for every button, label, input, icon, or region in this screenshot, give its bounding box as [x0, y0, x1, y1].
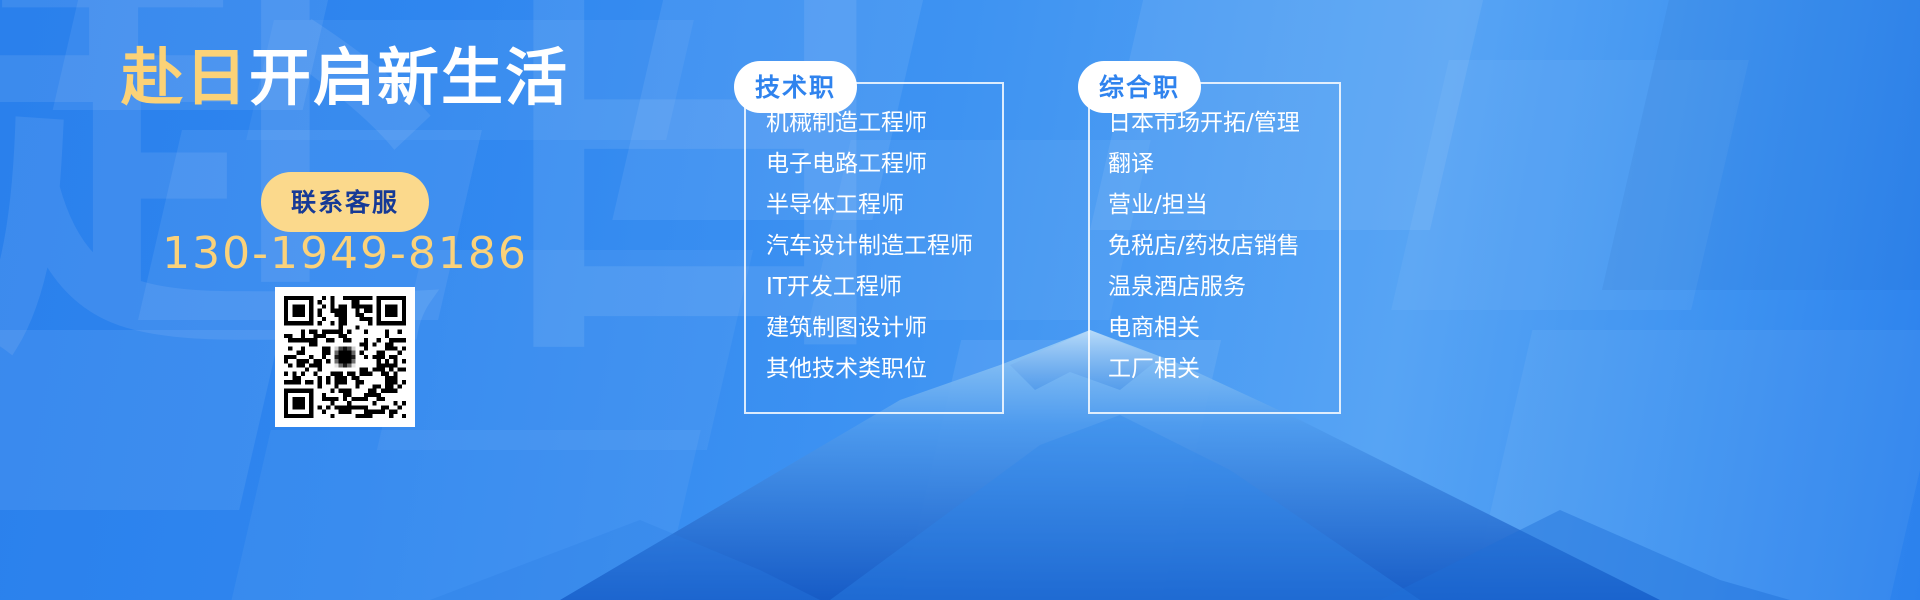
- headline-accent: 赴日: [121, 41, 249, 114]
- list-item[interactable]: 建筑制图设计师: [746, 317, 1002, 340]
- contact-support-button[interactable]: 联系客服: [261, 172, 429, 232]
- list-item[interactable]: 汽车设计制造工程师: [746, 235, 1002, 258]
- list-item[interactable]: 日本市场开拓/管理: [1090, 112, 1339, 135]
- list-item[interactable]: 电子电路工程师: [746, 153, 1002, 176]
- qr-code[interactable]: [275, 287, 415, 427]
- phone-number[interactable]: 130-1949-8186: [0, 228, 690, 279]
- promo-left-column: 赴日开启新生活 联系客服 130-1949-8186: [0, 0, 690, 600]
- list-item[interactable]: 温泉酒店服务: [1090, 276, 1339, 299]
- list-item[interactable]: 翻译: [1090, 153, 1339, 176]
- qr-code-canvas: [284, 296, 406, 418]
- list-item[interactable]: 营业/担当: [1090, 194, 1339, 217]
- list-item[interactable]: 机械制造工程师: [746, 112, 1002, 135]
- job-list-general: 日本市场开拓/管理 翻译 营业/担当 免税店/药妆店销售 温泉酒店服务 电商相关…: [1090, 84, 1339, 381]
- job-column-tech: 技术职 机械制造工程师 电子电路工程师 半导体工程师 汽车设计制造工程师 IT开…: [744, 82, 1004, 414]
- list-item[interactable]: IT开发工程师: [746, 276, 1002, 299]
- list-item[interactable]: 电商相关: [1090, 317, 1339, 340]
- list-item[interactable]: 工厂相关: [1090, 358, 1339, 381]
- list-item[interactable]: 免税店/药妆店销售: [1090, 235, 1339, 258]
- job-column-tech-title: 技术职: [734, 61, 857, 113]
- job-column-general-title: 综合职: [1078, 61, 1201, 113]
- list-item[interactable]: 半导体工程师: [746, 194, 1002, 217]
- list-item[interactable]: 其他技术类职位: [746, 358, 1002, 381]
- promo-banner: 赴日: [0, 0, 1920, 600]
- job-column-general: 综合职 日本市场开拓/管理 翻译 营业/担当 免税店/药妆店销售 温泉酒店服务 …: [1088, 82, 1341, 414]
- headline-plain: 开启新生活: [249, 41, 569, 114]
- page-title: 赴日开启新生活: [0, 44, 690, 112]
- job-list-tech: 机械制造工程师 电子电路工程师 半导体工程师 汽车设计制造工程师 IT开发工程师…: [746, 84, 1002, 381]
